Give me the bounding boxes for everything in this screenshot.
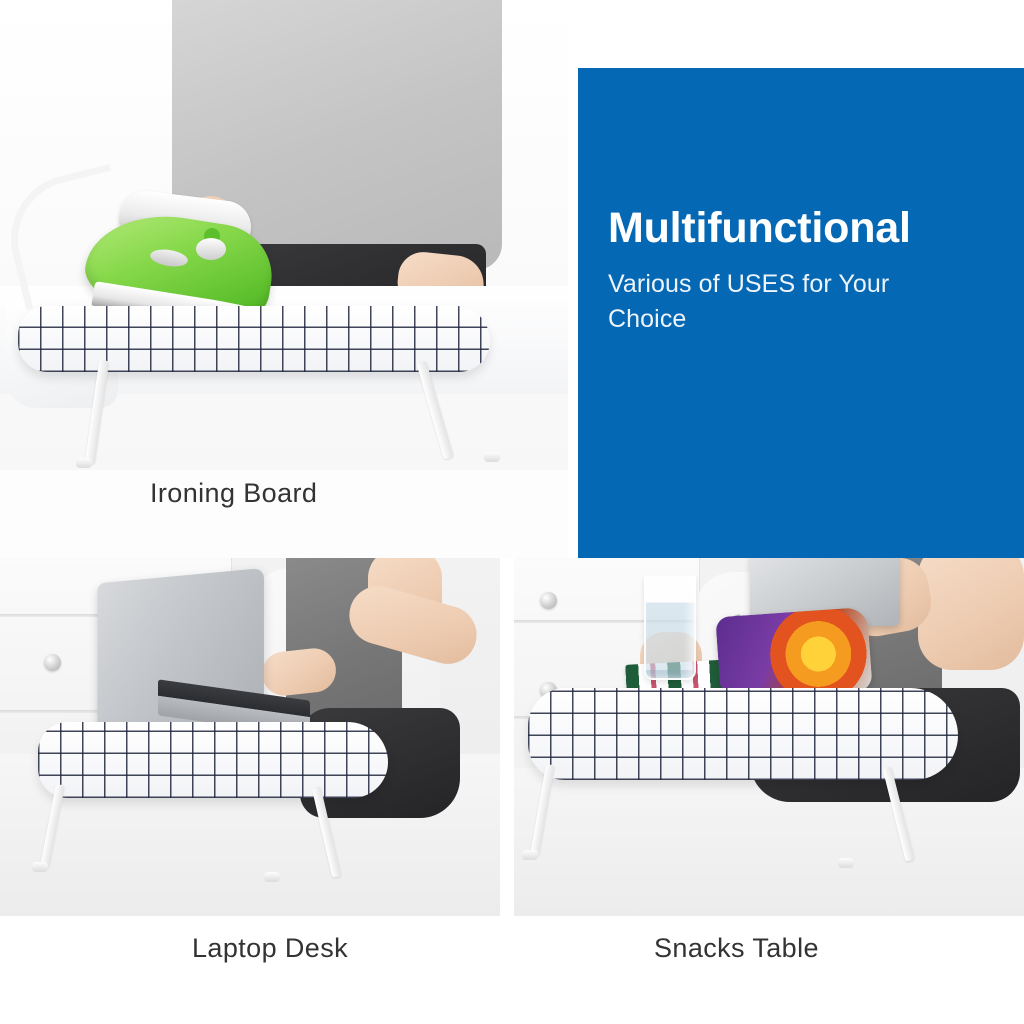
- board-foot-right: [484, 452, 500, 462]
- promo-subheadline: Various of USES for Your Choice: [608, 267, 968, 336]
- photo-ironing-board: [0, 0, 568, 470]
- laptop-desk-board-top: [38, 722, 388, 798]
- panel-laptop-desk: Laptop Desk: [0, 558, 500, 1024]
- product-infographic: Ironing Board Multifunctional Various of…: [0, 0, 1024, 1024]
- board-foot-left: [76, 458, 92, 468]
- iron-steam-knob: [196, 238, 226, 260]
- panel-ironing-board: Ironing Board: [0, 0, 568, 558]
- board-foot-left: [32, 862, 48, 872]
- top-row: Ironing Board Multifunctional Various of…: [0, 0, 1024, 558]
- photo-snacks-table: [514, 558, 1024, 916]
- panel-snacks-table: Snacks Table: [514, 558, 1024, 1024]
- photo-laptop-desk: [0, 558, 500, 916]
- caption-laptop-desk: Laptop Desk: [192, 933, 348, 964]
- snacks-table-board-top: [528, 688, 958, 780]
- person-arm-upper: [918, 558, 1024, 670]
- board-foot-left: [522, 850, 538, 860]
- board-foot-right: [838, 858, 854, 868]
- board-foot-right: [264, 872, 280, 882]
- dresser-knob: [540, 592, 557, 609]
- bottom-row: Laptop Desk: [0, 558, 1024, 1024]
- caption-snacks-table: Snacks Table: [654, 933, 819, 964]
- dresser-knob: [44, 654, 61, 671]
- promo-panel: Multifunctional Various of USES for Your…: [578, 68, 1024, 558]
- promo-headline: Multifunctional: [608, 206, 1018, 251]
- caption-ironing-board: Ironing Board: [150, 478, 317, 509]
- water-glass: [644, 574, 696, 680]
